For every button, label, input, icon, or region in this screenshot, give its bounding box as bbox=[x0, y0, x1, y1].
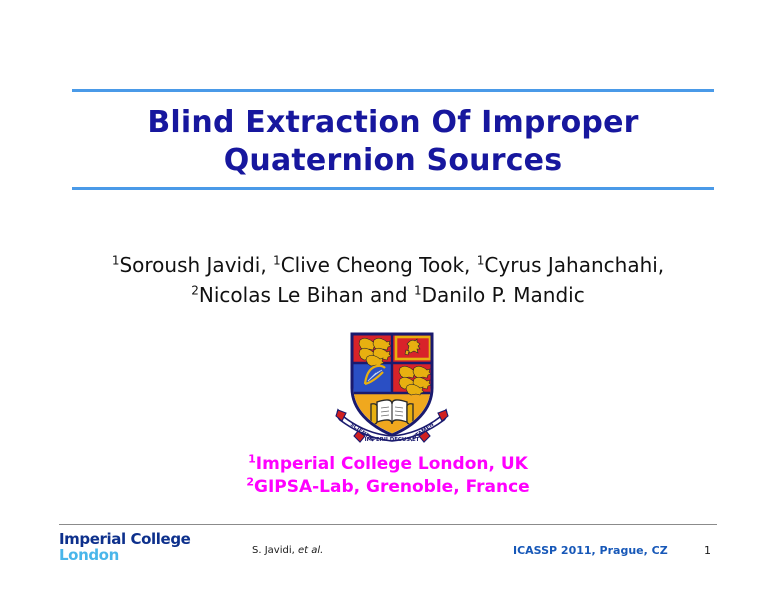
author-affiliation-marker: 1 bbox=[273, 253, 281, 267]
author-list: 1Soroush Javidi, 1Clive Cheong Took, 1Cy… bbox=[60, 250, 716, 310]
imperial-college-crest-icon: SCIENTIA IMPERII DECUS ET TUTAMEN bbox=[330, 328, 454, 444]
affiliation-list: 1Imperial College London, UK 2GIPSA-Lab,… bbox=[60, 453, 716, 499]
footer-author: S. Javidi, et al. bbox=[252, 545, 323, 556]
author-affiliation-marker: 2 bbox=[191, 283, 199, 297]
affiliation-2: 2GIPSA-Lab, Grenoble, France bbox=[60, 476, 716, 499]
affiliation-marker: 2 bbox=[246, 475, 254, 488]
affiliation-1: 1Imperial College London, UK bbox=[60, 453, 716, 476]
title-slide: Blind Extraction Of Improper Quaternion … bbox=[0, 0, 776, 600]
footer-page-number: 1 bbox=[704, 544, 711, 557]
title-line-1: Blind Extraction Of Improper bbox=[72, 104, 714, 142]
imperial-college-london-logo: Imperial College London bbox=[59, 531, 190, 563]
title-rule-top bbox=[72, 89, 714, 92]
author-name-group: Clive Cheong Took, bbox=[281, 253, 477, 277]
author-name-group: Soroush Javidi, bbox=[119, 253, 273, 277]
page-title: Blind Extraction Of Improper Quaternion … bbox=[72, 104, 714, 180]
logo-line-london: London bbox=[59, 547, 190, 563]
author-affiliation-marker: 1 bbox=[414, 283, 422, 297]
author-line-1: 1Soroush Javidi, 1Clive Cheong Took, 1Cy… bbox=[60, 250, 716, 280]
footer-conference: ICASSP 2011, Prague, CZ bbox=[513, 544, 668, 557]
footer-author-name: S. Javidi, bbox=[252, 545, 298, 556]
author-name-group: Cyrus Jahanchahi, bbox=[484, 253, 664, 277]
affiliation-text: GIPSA-Lab, Grenoble, France bbox=[254, 477, 530, 497]
title-line-2: Quaternion Sources bbox=[72, 142, 714, 180]
author-name-group: Nicolas Le Bihan and bbox=[199, 283, 414, 307]
footer-divider bbox=[59, 524, 717, 525]
logo-line-imperial-college: Imperial College bbox=[59, 531, 190, 547]
author-line-2: 2Nicolas Le Bihan and 1Danilo P. Mandic bbox=[60, 280, 716, 310]
footer-author-etal: et al. bbox=[298, 545, 323, 556]
author-name-group: Danilo P. Mandic bbox=[422, 283, 585, 307]
affiliation-text: Imperial College London, UK bbox=[256, 454, 528, 474]
crest-svg: SCIENTIA IMPERII DECUS ET TUTAMEN bbox=[330, 328, 454, 444]
affiliation-marker: 1 bbox=[248, 452, 256, 465]
title-rule-bottom bbox=[72, 187, 714, 190]
